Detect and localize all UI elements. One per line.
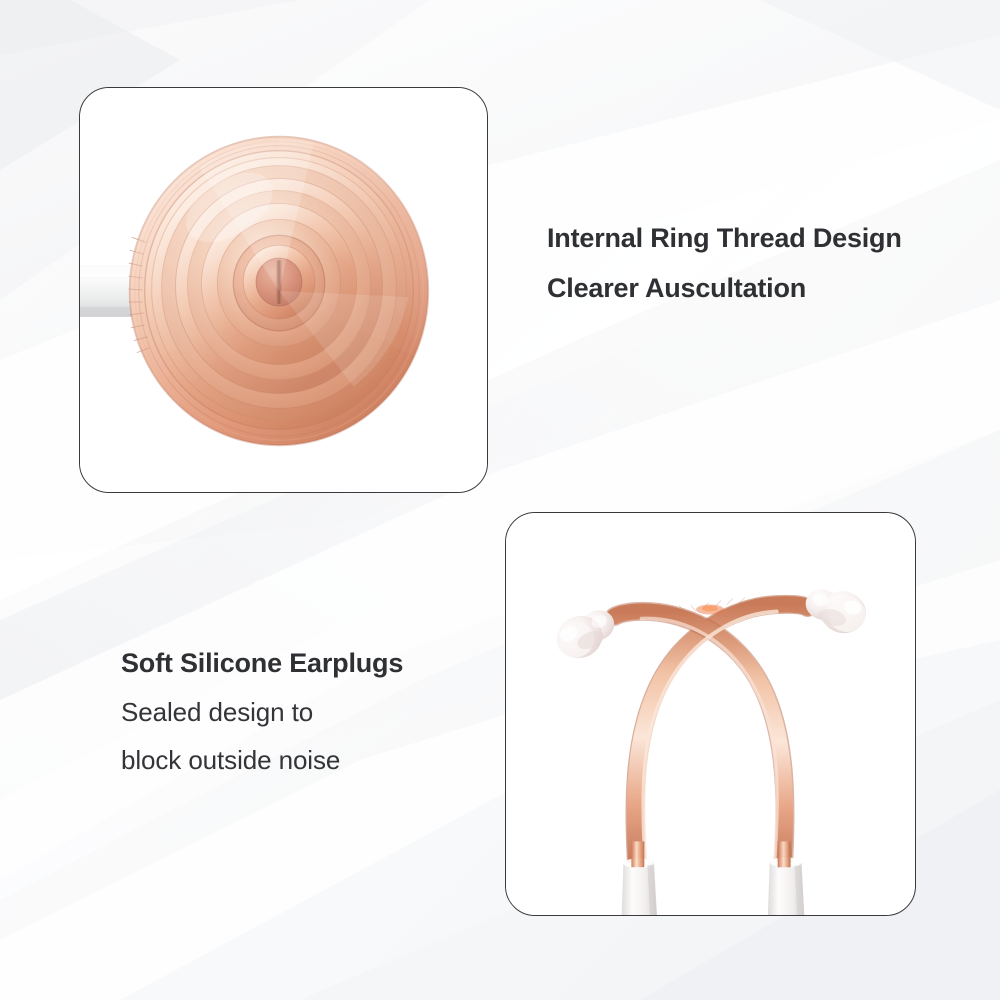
body-sealed-design: Sealed design to bbox=[121, 699, 481, 725]
feature-card-internal-ring-thread bbox=[79, 87, 488, 493]
product-feature-graphic: Internal Ring Thread Design Clearer Ausc… bbox=[0, 0, 1000, 1000]
feature-text-soft-silicone-earplugs: Soft Silicone Earplugs Sealed design to … bbox=[121, 650, 481, 795]
stethoscope-earplugs-photo bbox=[506, 513, 915, 915]
stethoscope-chestpiece-photo bbox=[80, 88, 487, 492]
body-block-outside-noise: block outside noise bbox=[121, 747, 481, 773]
headline-internal-ring-thread: Internal Ring Thread Design bbox=[547, 225, 967, 252]
headline-clearer-auscultation: Clearer Auscultation bbox=[547, 275, 967, 302]
feature-card-soft-silicone-earplugs bbox=[505, 512, 916, 916]
feature-text-internal-ring-thread: Internal Ring Thread Design Clearer Ausc… bbox=[547, 225, 967, 325]
headline-soft-silicone-earplugs: Soft Silicone Earplugs bbox=[121, 650, 481, 677]
